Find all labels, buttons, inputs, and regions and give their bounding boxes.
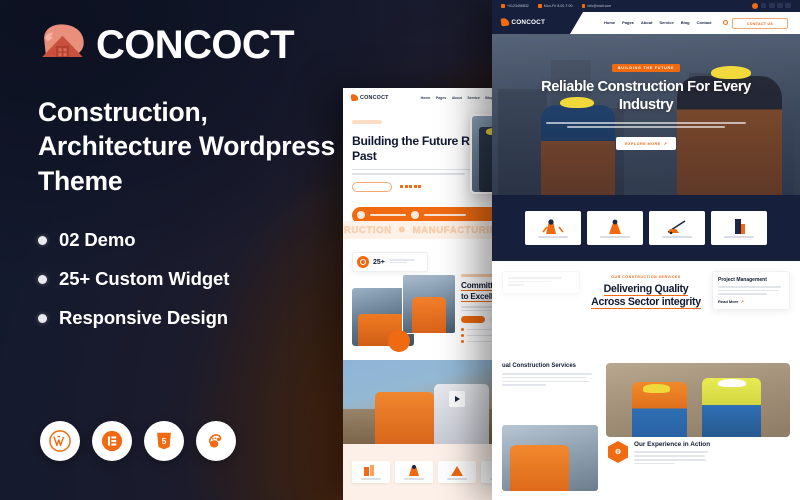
service-card-building[interactable] [711,211,767,245]
poster-canvas: CONCOCT Construction, Architecture Wordp… [0,0,800,500]
brand-logo: CONCOCT [38,22,358,68]
quality-section: OUR CONSTRUCTION SERVICES Delivering Qua… [492,261,800,359]
topbar-phone[interactable]: +0123456832 [501,4,529,8]
wordpress-badge [40,421,80,461]
partner-label [447,478,467,480]
hero-paragraph [518,122,774,129]
partner-label [361,478,381,480]
mock-mid-brand: CONCOCT [360,95,389,101]
clock-icon [538,4,542,8]
nav-item-home[interactable]: Home [604,20,615,25]
pill-icon-left [357,211,365,219]
tab-mission[interactable] [461,316,485,323]
partner-card [352,461,390,483]
nav-item[interactable]: Service [467,96,479,100]
feature-label: 25+ Custom Widget [59,268,229,290]
hours-text: Mon-Fri 8:00-7:00 [544,4,573,8]
hero-content: BUILDING THE FUTURE Reliable Constructio… [492,56,800,150]
phone-icon [501,4,505,8]
stat-number: 25+ [373,259,385,266]
page-title: Construction, Architecture Wordpress The… [38,95,358,198]
partner-card [395,461,433,483]
experience-bottom: ⚙ Our Experience in Action [608,441,790,467]
yellow-helmet-icon [643,384,671,392]
quality-card-left[interactable] [502,271,580,294]
arrow-right-icon: ↗ [664,141,667,146]
nav-item[interactable]: Pages [436,96,446,100]
stat-caption [389,259,415,265]
nav-item-blog[interactable]: Blog [681,20,690,25]
service-card-excavation[interactable] [649,211,705,245]
promo-block: CONCOCT Construction, Architecture Wordp… [38,22,358,346]
quality-heading: Delivering Quality Across Sector integri… [586,283,706,309]
contact-us-button[interactable]: CONTACT US [732,18,788,29]
service-label [724,236,754,238]
nav-item-about[interactable]: About [641,20,653,25]
bullet-dot-icon [38,236,47,245]
experience-copy: Our Experience in Action [634,441,710,467]
quality-copy: OUR CONSTRUCTION SERVICES Delivering Qua… [586,271,706,309]
svg-text:5: 5 [162,436,167,446]
hero-section: BUILDING THE FUTURE Reliable Constructio… [492,34,800,195]
mail-icon [582,4,586,8]
rating-stars [400,185,421,188]
nav-item-service[interactable]: Service [659,20,673,25]
pill-icon-right [411,211,419,219]
explore-label: EXPLORE MORE [625,142,660,146]
twitter-icon[interactable] [769,3,775,9]
gear-icon: ⚙ [608,441,628,463]
arrow-right-icon: ↗ [740,299,743,304]
site-brand: CONCOCT [511,19,545,26]
service-card-construction[interactable] [525,211,581,245]
experience-photo-secondary [502,425,598,491]
service-label [538,236,568,238]
experience-photo [606,363,790,437]
email-text: info@mail.com [588,4,612,8]
hero-heading: Reliable Construction For Every Industry [518,78,774,114]
read-more-label: Read More [718,299,738,304]
card-title: Project Management [718,277,784,283]
experience-section: ual Construction Services ⚙ Our Experien… [492,359,800,500]
decor-circle [388,330,410,352]
quality-layout: OUR CONSTRUCTION SERVICES Delivering Qua… [502,271,790,310]
topbar-email[interactable]: info@mail.com [582,4,612,8]
experience-stat-badge: 25+ [352,252,428,272]
services-strip [492,195,800,261]
list-item: Responsive Design [38,307,358,329]
site-logo[interactable]: CONCOCT [501,18,545,26]
marquee-separator-icon: ⚙ [399,226,406,234]
main-nav[interactable]: Home Pages About Service Blog Contact [604,20,712,25]
instagram-icon[interactable] [785,3,791,9]
service-label [662,236,692,238]
quality-card-project-management[interactable]: Project Management Read More ↗ [712,271,790,310]
worker-male [702,378,761,437]
explore-more-button[interactable]: EXPLORE MORE ↗ [616,137,676,150]
bullet-dot-icon [38,314,47,323]
partner-label [404,478,424,480]
topbar-hours: Mon-Fri 8:00-7:00 [538,4,573,8]
bullet-dot-icon [38,275,47,284]
linkedin-icon[interactable] [777,3,783,9]
white-helmet-icon [718,379,746,387]
pill-text-left [370,214,406,216]
mailchimp-badge [196,421,236,461]
about-image-b [402,274,456,334]
play-button[interactable] [449,391,465,407]
service-card-engineering[interactable] [587,211,643,245]
stat-ring-icon [357,256,369,268]
list-item: 02 Demo [38,229,358,251]
nav-item-pages[interactable]: Pages [622,20,634,25]
about-image-grid [352,274,456,348]
topbar: +0123456832 Mon-Fri 8:00-7:00 info@mail.… [492,0,800,12]
quality-heading-text: Delivering Quality Across Sector integri… [591,283,701,309]
nav-item[interactable]: Home [421,96,431,100]
tech-badge-row: 5 [40,421,236,461]
hero-cta-button[interactable] [352,182,392,192]
phone-text: +0123456832 [507,4,529,8]
facebook-icon[interactable] [761,3,767,9]
social-links[interactable] [752,3,791,9]
html5-badge: 5 [144,421,184,461]
partner-card [438,461,476,483]
contact-button-label: CONTACT US [747,22,773,26]
quality-kicker: OUR CONSTRUCTION SERVICES [586,275,706,279]
experience-left-title: ual Construction Services [502,363,598,369]
search-icon[interactable] [723,20,728,25]
house-roof-logo-icon [38,22,87,68]
list-item: 25+ Custom Widget [38,268,358,290]
feature-list: 02 Demo 25+ Custom Widget Responsive Des… [38,229,358,329]
feature-label: 02 Demo [59,229,135,251]
site-header[interactable]: CONCOCT Home Pages About Service Blog Co… [492,12,800,34]
social-icon-plus[interactable] [752,3,758,9]
video-person-left [375,392,434,444]
read-more-link[interactable]: Read More ↗ [718,299,784,304]
nav-item-contact[interactable]: Contact [697,20,712,25]
experience-title: Our Experience in Action [634,441,710,448]
nav-item[interactable]: About [452,96,462,100]
house-roof-logo-icon [500,17,509,26]
screenshot-preview-right[interactable]: +0123456832 Mon-Fri 8:00-7:00 info@mail.… [492,0,800,500]
feature-label: Responsive Design [59,307,228,329]
pill-text-right [424,214,466,216]
hero-badge: BUILDING THE FUTURE [612,64,680,72]
brand-name: CONCOCT [96,25,294,65]
service-label [600,236,630,238]
elementor-badge [92,421,132,461]
